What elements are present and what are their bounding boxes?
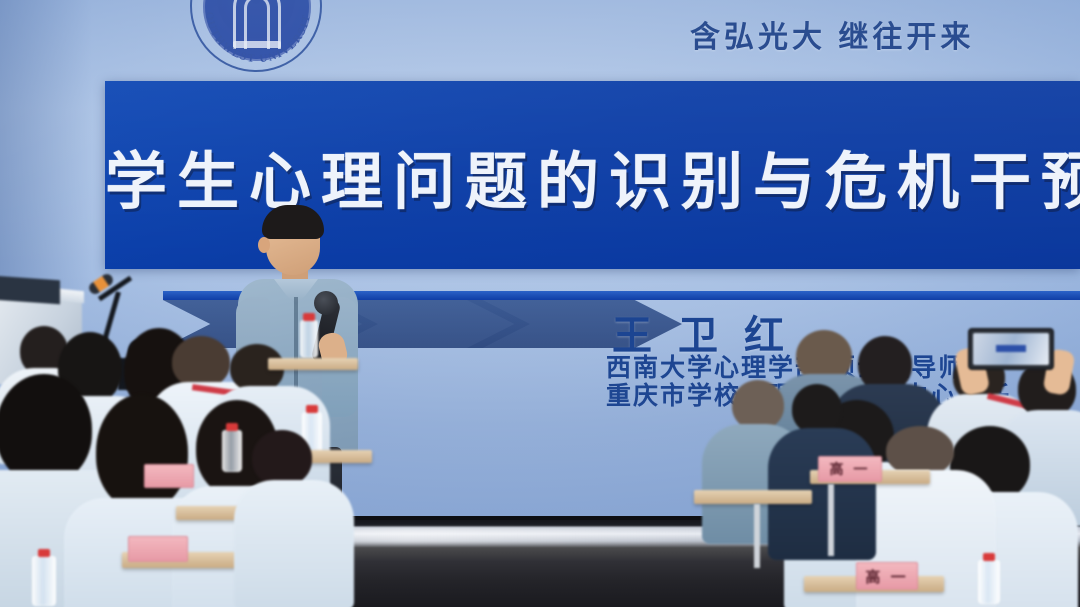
bottle-cap <box>306 405 318 413</box>
bottle-body <box>222 430 242 472</box>
water-bottle <box>222 430 242 472</box>
person-head <box>252 430 312 486</box>
desk-placard <box>128 536 188 562</box>
person-head <box>886 426 954 476</box>
phone-screen-content <box>996 345 1026 352</box>
slide-motto: 含弘光大 继往开来 <box>690 12 974 56</box>
microphone-head-icon <box>314 291 338 315</box>
desk-placard <box>144 464 194 488</box>
desk-leg <box>754 504 760 568</box>
bottle-cap <box>983 553 995 561</box>
desk-placard: 高 一 <box>818 456 882 482</box>
person-head <box>732 380 784 430</box>
bottle-body <box>32 556 56 606</box>
phone-screen <box>973 333 1049 365</box>
bottle-cap <box>226 423 238 431</box>
bottle-body <box>978 560 1000 604</box>
smartphone-icon <box>968 328 1054 370</box>
screen-shadow-left <box>0 0 92 300</box>
southwest-university-seal-icon: SOUTHWEST UNIVERSITY <box>190 0 322 72</box>
bottle-cap <box>303 313 315 321</box>
person-head <box>172 336 230 388</box>
speaker-ear <box>258 237 270 253</box>
desk <box>694 490 812 504</box>
water-bottle <box>978 560 1000 604</box>
desk-leg <box>828 484 834 556</box>
speaker-hair <box>262 205 324 239</box>
person-head <box>96 394 188 510</box>
water-bottle <box>300 320 318 358</box>
bottle-body <box>300 320 318 358</box>
person-head <box>0 374 92 484</box>
desk-placard: 高 一 <box>856 562 918 590</box>
seal-arc-text-icon: SOUTHWEST UNIVERSITY <box>192 0 324 74</box>
audience: 高 一 高 一 <box>0 330 1080 607</box>
screenshot-root: SOUTHWEST UNIVERSITY 含弘光大 继往开来 学生心理问题的识别… <box>0 0 1080 607</box>
person-head <box>792 384 842 434</box>
water-bottle <box>32 556 56 606</box>
bottle-cap <box>38 549 50 557</box>
svg-text:SOUTHWEST UNIVERSITY: SOUTHWEST UNIVERSITY <box>192 0 313 65</box>
desk <box>268 358 358 370</box>
podium-monitor <box>0 276 60 305</box>
person-shirt <box>234 480 354 607</box>
seal-arc-label: SOUTHWEST UNIVERSITY <box>192 0 313 65</box>
